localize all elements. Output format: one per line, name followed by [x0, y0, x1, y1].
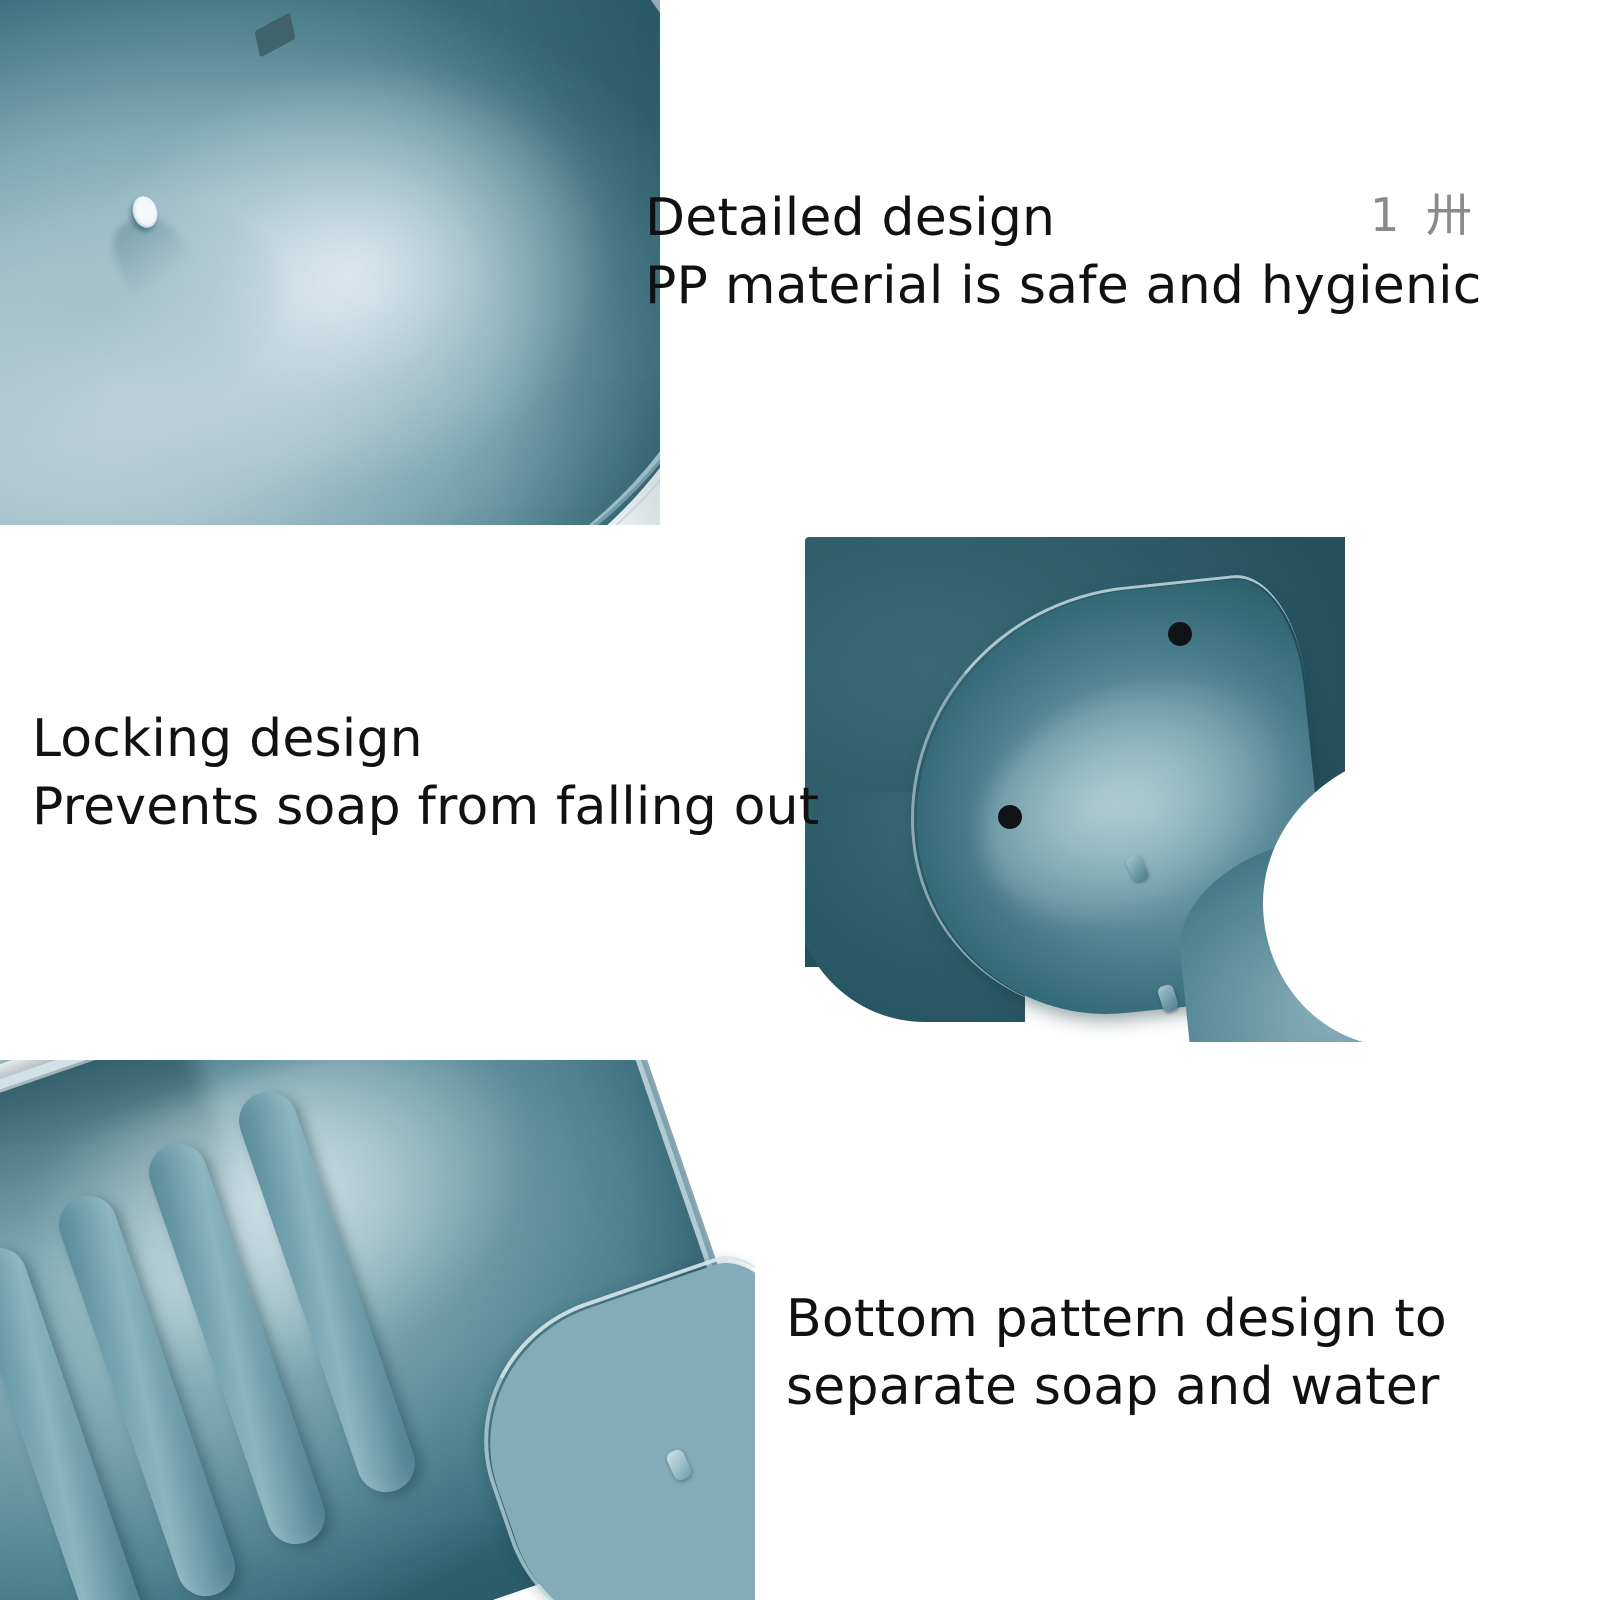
caption-detailed-heading: Detailed design: [645, 185, 1482, 253]
caption-detailed-design: Detailed design PP material is safe and …: [645, 185, 1482, 320]
product-photo-detailed-design: [0, 0, 660, 525]
caption-bottom-pattern: Bottom pattern design to separate soap a…: [786, 1286, 1447, 1421]
product-photo-locking-design: [805, 537, 1405, 1042]
caption-pattern-heading: Bottom pattern design to: [786, 1286, 1447, 1354]
lock-point-marker-2: [998, 805, 1022, 829]
caption-pattern-subheading: separate soap and water: [786, 1354, 1447, 1422]
product-photo-bottom-pattern: [0, 1060, 755, 1600]
lid-inner-rim: [0, 0, 660, 525]
caption-locking-subheading: Prevents soap from falling out: [32, 774, 819, 842]
watermark-text: 1 卅: [1370, 192, 1478, 238]
caption-locking-design: Locking design Prevents soap from fallin…: [32, 706, 819, 841]
infographic-canvas: Detailed design PP material is safe and …: [0, 0, 1600, 1600]
caption-detailed-subheading: PP material is safe and hygienic: [645, 253, 1482, 321]
dish-base-clip: [993, 677, 1405, 1042]
lock-point-marker-1: [1168, 622, 1192, 646]
caption-locking-heading: Locking design: [32, 706, 819, 774]
